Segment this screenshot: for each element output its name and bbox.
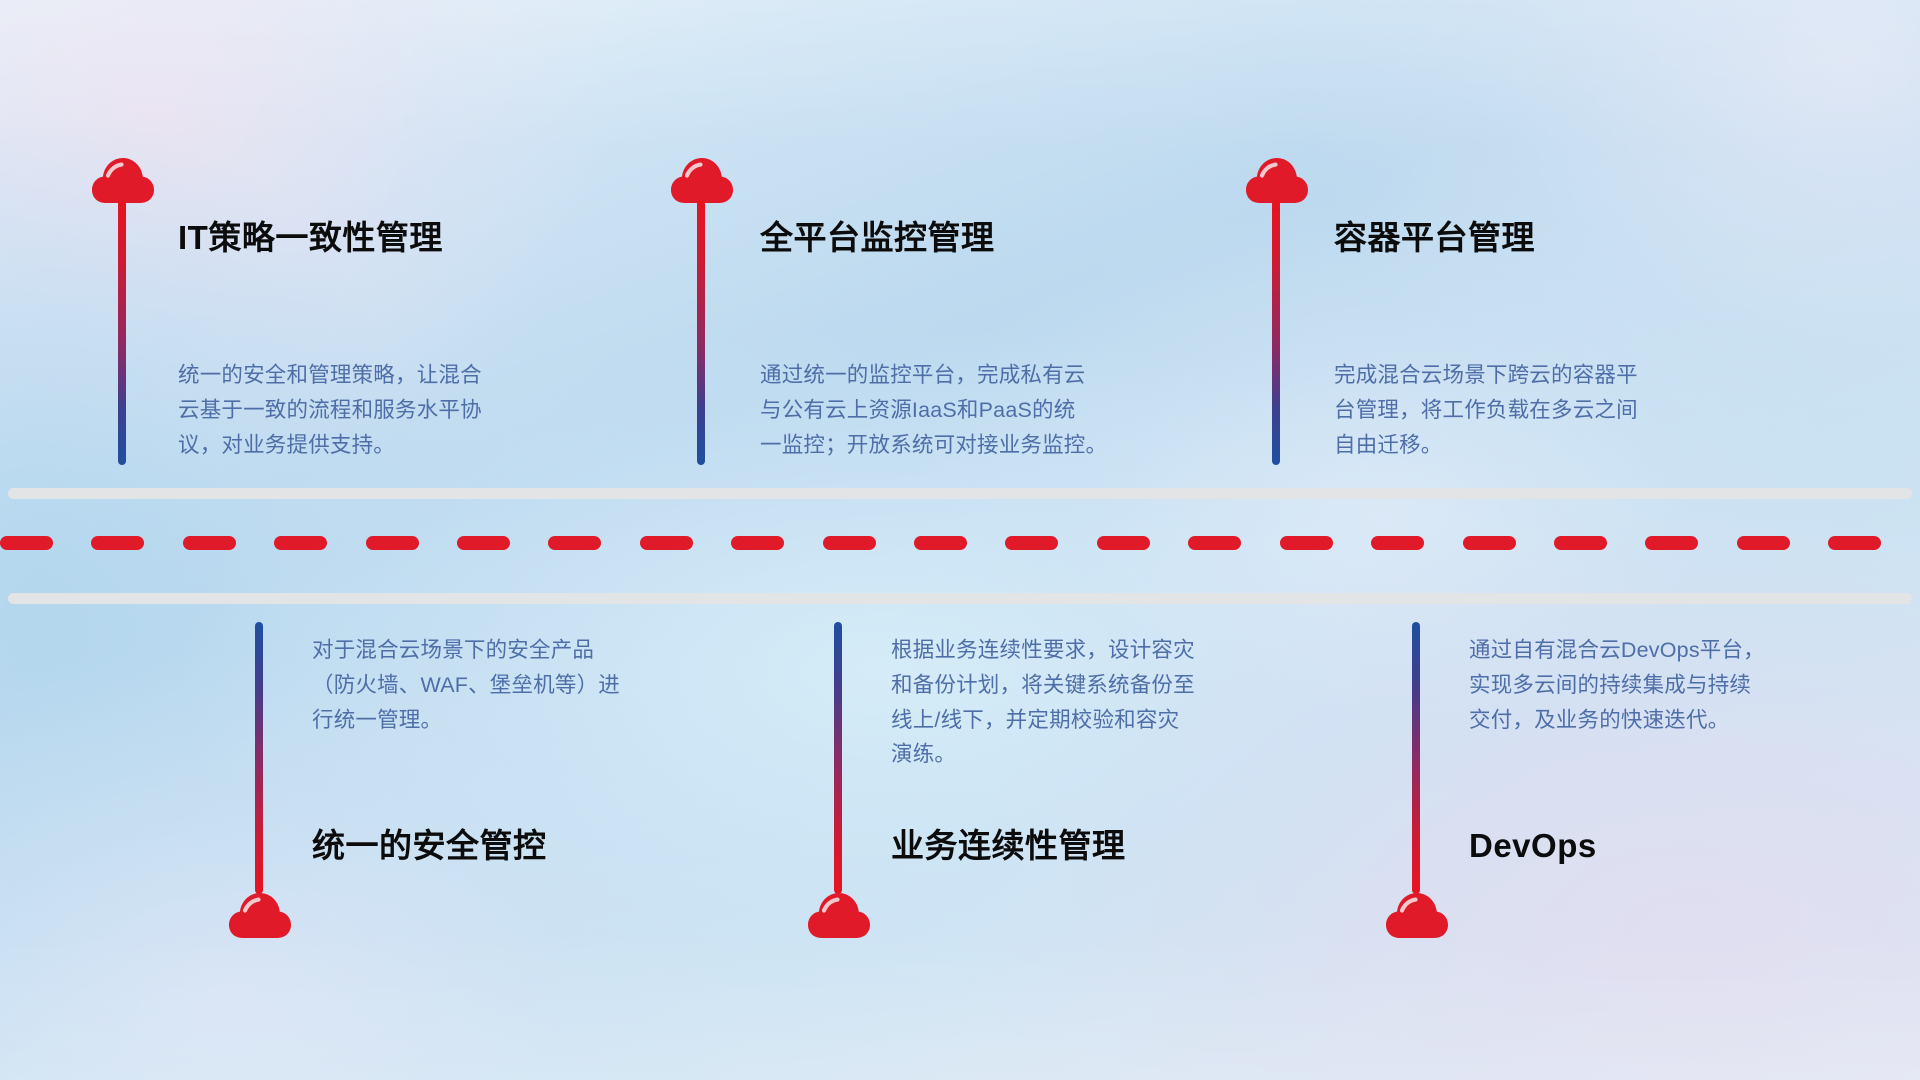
road-edge-top (8, 488, 1912, 499)
road-center-dash (731, 536, 784, 550)
road-center-dash (1554, 536, 1607, 550)
connector-stem (834, 622, 842, 894)
road-center-dash (274, 536, 327, 550)
top-column-1-body: 统一的安全和管理策略，让混合 云基于一致的流程和服务水平协 议，对业务提供支持。 (178, 358, 608, 462)
road-center-dash (1371, 536, 1424, 550)
top-column-3-title: 容器平台管理 (1334, 218, 1535, 258)
road-center-dash (1005, 536, 1058, 550)
bottom-column-3-body: 通过自有混合云DevOps平台， 实现多云间的持续集成与持续 交付，及业务的快速… (1469, 633, 1909, 737)
infographic-canvas: IT策略一致性管理 统一的安全和管理策略，让混合 云基于一致的流程和服务水平协 … (0, 0, 1920, 1080)
connector-stem (255, 622, 263, 894)
road-center-dash (183, 536, 236, 550)
top-column-2-body: 通过统一的监控平台，完成私有云 与公有云上资源IaaS和PaaS的统 一监控；开… (760, 358, 1210, 462)
cloud-icon (229, 893, 291, 939)
bottom-column-1-title: 统一的安全管控 (312, 826, 547, 866)
road-center-dash (640, 536, 693, 550)
cloud-icon (1386, 893, 1448, 939)
road-center-dash (1188, 536, 1241, 550)
top-column-3-body: 完成混合云场景下跨云的容器平 台管理，将工作负载在多云之间 自由迁移。 (1334, 358, 1774, 462)
road-center-dash (1645, 536, 1698, 550)
road-edge-bottom (8, 593, 1912, 604)
connector-stem (1272, 200, 1280, 465)
road-center-dash (1828, 536, 1881, 550)
connector-stem (697, 200, 705, 465)
bottom-column-2-body: 根据业务连续性要求，设计容灾 和备份计划，将关键系统备份至 线上/线下，并定期校… (891, 633, 1331, 772)
road-center-line (0, 536, 1920, 550)
bottom-column-1-body: 对于混合云场景下的安全产品 （防火墙、WAF、堡垒机等）进 行统一管理。 (312, 633, 742, 737)
cloud-icon (92, 158, 154, 204)
road-center-dash (91, 536, 144, 550)
bottom-column-2-title: 业务连续性管理 (891, 826, 1126, 866)
cloud-icon (1246, 158, 1308, 204)
road-center-dash (914, 536, 967, 550)
road-divider (0, 488, 1920, 608)
road-center-dash (366, 536, 419, 550)
road-center-dash (1097, 536, 1150, 550)
top-column-2-title: 全平台监控管理 (760, 218, 995, 258)
road-center-dash (1463, 536, 1516, 550)
road-center-dash (457, 536, 510, 550)
cloud-icon (671, 158, 733, 204)
road-center-dash (548, 536, 601, 550)
bottom-column-3-title: DevOps (1469, 826, 1597, 866)
road-center-dash (0, 536, 53, 550)
connector-stem (118, 200, 126, 465)
connector-stem (1412, 622, 1420, 894)
road-center-dash (1737, 536, 1790, 550)
road-center-dash (823, 536, 876, 550)
road-center-dash (1280, 536, 1333, 550)
top-column-1-title: IT策略一致性管理 (178, 218, 443, 258)
cloud-icon (808, 893, 870, 939)
